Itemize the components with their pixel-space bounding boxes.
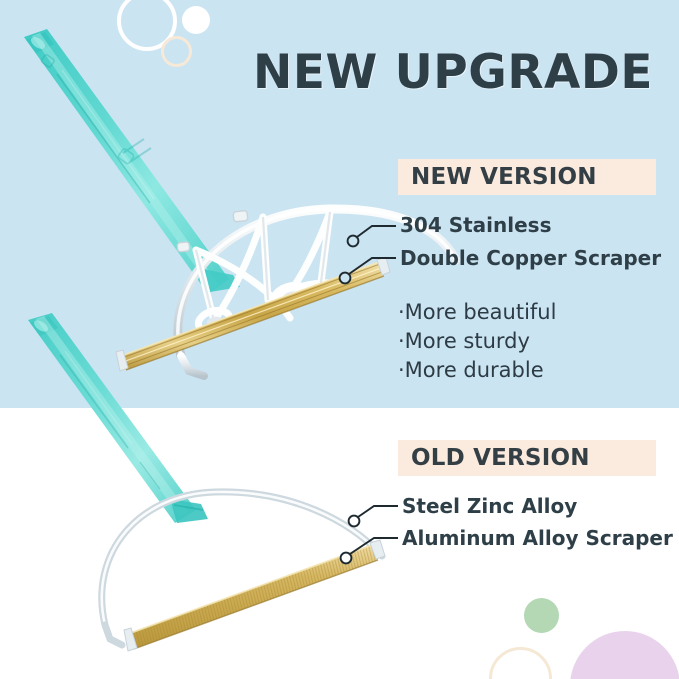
old-version-band: OLD VERSION: [398, 440, 656, 476]
callout-old-material: Steel Zinc Alloy: [402, 494, 577, 518]
benefit-item-2: ·More sturdy: [398, 327, 556, 356]
new-version-band: NEW VERSION: [398, 159, 656, 195]
benefit-item-1: ·More beautiful: [398, 298, 556, 327]
old-version-label: OLD VERSION: [398, 445, 590, 471]
benefit-item-3: ·More durable: [398, 356, 556, 385]
new-version-benefits: ·More beautiful ·More sturdy ·More durab…: [398, 298, 556, 385]
product-illustration: [0, 0, 679, 679]
callout-new-scraper: Double Copper Scraper: [400, 246, 661, 270]
page-title: NEW UPGRADE: [253, 45, 653, 100]
old-version-tool: [28, 313, 385, 651]
callout-old-scraper: Aluminum Alloy Scraper: [402, 526, 673, 550]
callout-new-material: 304 Stainless: [400, 213, 552, 237]
infographic-canvas: NEW UPGRADE NEW VERSION 304 Stainless Do…: [0, 0, 679, 679]
new-version-label: NEW VERSION: [398, 164, 597, 190]
